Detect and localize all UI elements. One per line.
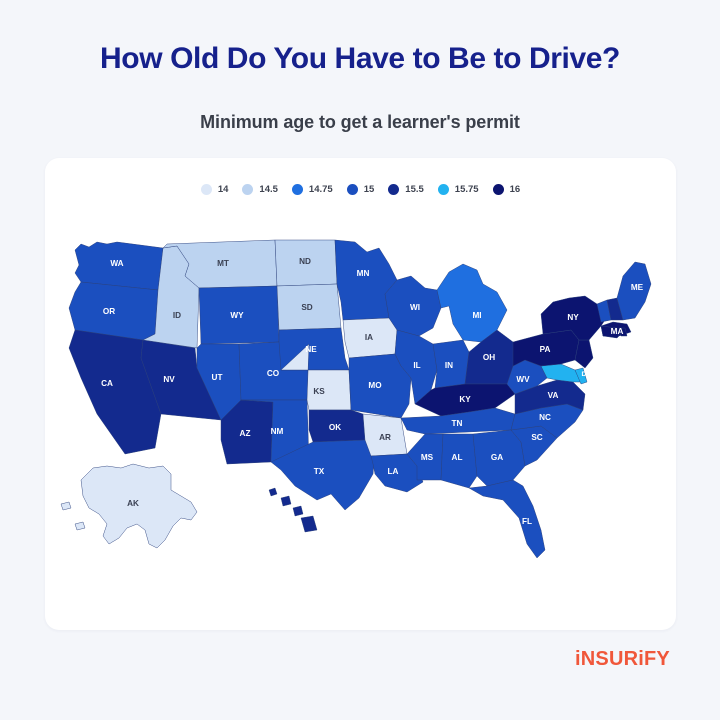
legend-swatch-15-75 (438, 184, 449, 195)
legend-label-14-5: 14.5 (259, 184, 278, 195)
insurify-logo[interactable]: iNSURiFY (575, 648, 670, 671)
state-WY[interactable] (199, 286, 279, 344)
page-subtitle: Minimum age to get a learner's permit (0, 112, 720, 133)
legend-item-15-5[interactable]: 15.5 (388, 184, 424, 195)
state-GA[interactable] (473, 430, 525, 486)
legend-label-15-5: 15.5 (405, 184, 424, 195)
state-AK-island-2 (75, 522, 85, 530)
legend: 14 14.5 14.75 15 15.5 15.75 (45, 184, 676, 195)
map-card: 14 14.5 14.75 15 15.5 15.75 (45, 158, 676, 630)
insurify-logo-text: iNSURiFY (575, 648, 670, 670)
state-HI-island-3 (293, 506, 303, 516)
state-MD[interactable] (541, 364, 581, 382)
legend-swatch-14-75 (292, 184, 303, 195)
state-AK[interactable] (81, 464, 197, 548)
state-HI-island-4 (301, 516, 317, 532)
state-AR[interactable] (363, 414, 407, 456)
state-OK[interactable] (309, 410, 365, 442)
state-ND[interactable] (275, 240, 337, 286)
state-CT[interactable] (601, 326, 619, 338)
legend-item-15-75[interactable]: 15.75 (438, 184, 479, 195)
legend-item-14[interactable]: 14 (201, 184, 229, 195)
state-HI-island-2 (281, 496, 291, 506)
legend-swatch-16 (493, 184, 504, 195)
state-ME[interactable] (617, 262, 651, 320)
legend-label-14: 14 (218, 184, 229, 195)
legend-label-15: 15 (364, 184, 375, 195)
us-choropleth-map: WA OR CA NV ID MT WY UT AZ CO NM ND SD N… (45, 218, 676, 618)
legend-item-16[interactable]: 16 (493, 184, 521, 195)
state-PA[interactable] (513, 330, 579, 366)
state-AL[interactable] (441, 434, 477, 488)
legend-item-14-5[interactable]: 14.5 (242, 184, 278, 195)
state-IN[interactable] (433, 340, 469, 388)
state-AK-island-1 (61, 502, 71, 510)
state-IA[interactable] (343, 318, 397, 358)
legend-swatch-14 (201, 184, 212, 195)
infographic-page: How Old Do You Have to Be to Drive? Mini… (0, 0, 720, 720)
state-SD[interactable] (277, 284, 341, 330)
legend-item-14-75[interactable]: 14.75 (292, 184, 333, 195)
legend-label-16: 16 (510, 184, 521, 195)
state-FL[interactable] (469, 480, 545, 558)
legend-label-15-75: 15.75 (455, 184, 479, 195)
legend-item-15[interactable]: 15 (347, 184, 375, 195)
state-HI-island-1 (269, 488, 277, 496)
legend-swatch-14-5 (242, 184, 253, 195)
page-title: How Old Do You Have to Be to Drive? (0, 42, 720, 76)
legend-swatch-15-5 (388, 184, 399, 195)
legend-swatch-15 (347, 184, 358, 195)
legend-label-14-75: 14.75 (309, 184, 333, 195)
